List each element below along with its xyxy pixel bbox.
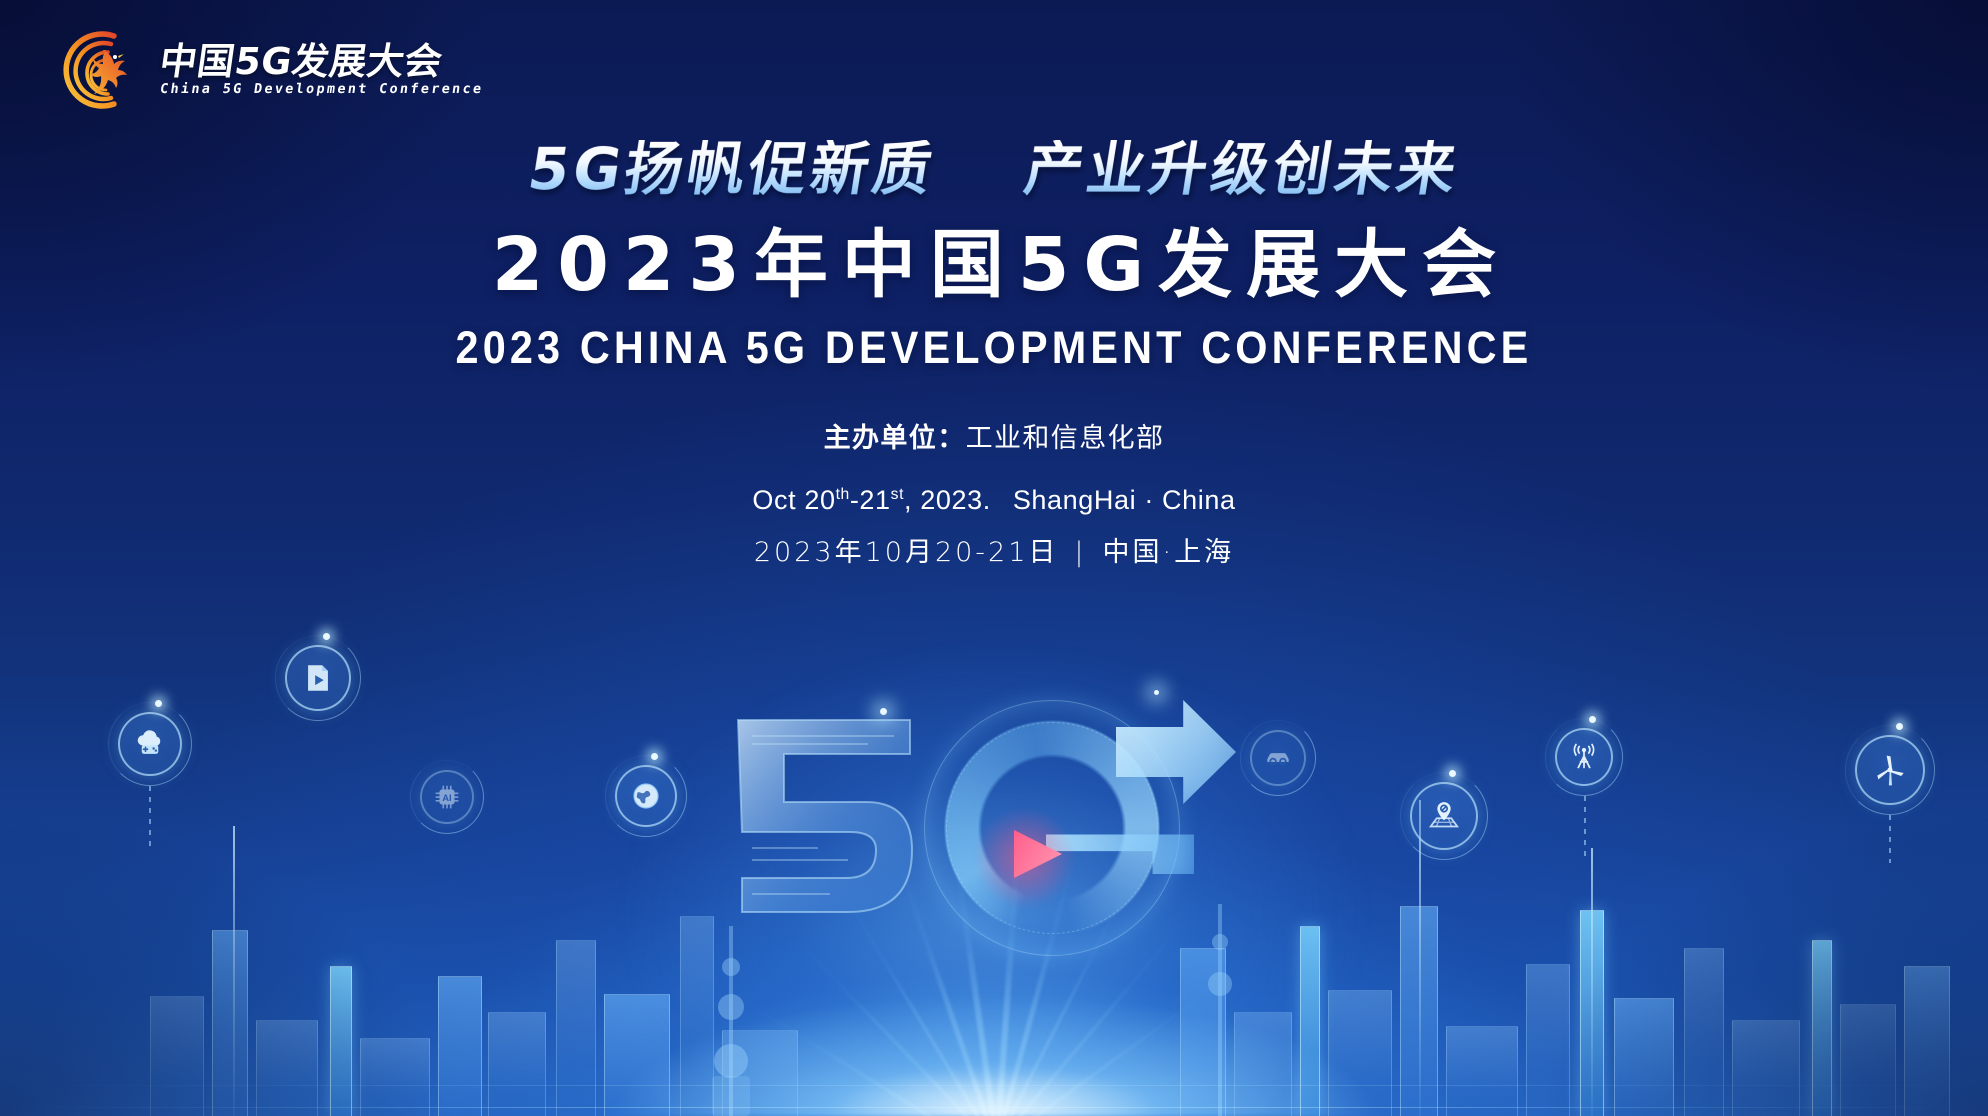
map-pin-glyph bbox=[1425, 797, 1463, 835]
headline-block: 5G扬帆促新质 产业升级创未来 2023年中国5G发展大会 2023 CHINA… bbox=[0, 140, 1988, 569]
badge-connector-line bbox=[149, 786, 151, 846]
logo-name-en: China 5G Development Conference bbox=[159, 83, 484, 97]
ai-chip-glyph: AI bbox=[432, 782, 462, 812]
location-chinese: 中国·上海 bbox=[1103, 537, 1235, 568]
map-pin-icon[interactable] bbox=[1410, 782, 1478, 850]
media-play-glyph bbox=[301, 661, 335, 695]
cloud-gaming-glyph bbox=[132, 726, 168, 762]
page-title: 2023年中国5G发展大会 bbox=[0, 226, 1988, 306]
globe-glyph bbox=[629, 779, 663, 813]
event-date-chinese: 2023年10月20-21日|中国·上海 bbox=[0, 530, 1988, 569]
date-en-sup1: th bbox=[836, 486, 850, 503]
event-date-english: Oct 20th-21st, 2023.ShangHai · China bbox=[0, 485, 1988, 516]
date-location-separator: | bbox=[1058, 537, 1102, 568]
date-en-mid: -21 bbox=[850, 485, 891, 515]
slogan-part1: 5G扬帆促新质 bbox=[523, 135, 940, 203]
conference-logo[interactable]: 中国5G发展大会 China 5G Development Conference bbox=[56, 26, 483, 114]
smart-car-icon[interactable] bbox=[1250, 730, 1306, 786]
wind-turbine-icon[interactable] bbox=[1855, 735, 1925, 805]
page-title-english: 2023 CHINA 5G DEVELOPMENT CONFERENCE bbox=[80, 322, 1909, 374]
badge-connector-line bbox=[1584, 796, 1586, 862]
date-en-prefix: Oct 20 bbox=[752, 485, 835, 515]
cloud-gaming-icon[interactable] bbox=[118, 712, 182, 776]
slogan-part2: 产业升级创未来 bbox=[1020, 135, 1465, 203]
conference-poster: AI bbox=[0, 0, 1988, 1116]
event-slogan: 5G扬帆促新质 产业升级创未来 bbox=[524, 140, 1464, 198]
badge-connector-line bbox=[1889, 815, 1891, 863]
location-english: ShangHai · China bbox=[1013, 485, 1236, 515]
phoenix-icon bbox=[56, 26, 144, 114]
host-organization: 主办单位：工业和信息化部 bbox=[0, 416, 1988, 455]
svg-text:AI: AI bbox=[442, 793, 451, 803]
hero-5g-graphic bbox=[684, 672, 1304, 1012]
date-en-sup2: st bbox=[891, 486, 904, 503]
signal-tower-glyph bbox=[1567, 740, 1601, 774]
signal-tower-icon[interactable] bbox=[1555, 728, 1613, 786]
ai-chip-icon[interactable]: AI bbox=[420, 770, 474, 824]
globe-icon[interactable] bbox=[615, 765, 677, 827]
wind-turbine-glyph bbox=[1870, 750, 1910, 790]
date-cn-value: 2023年10月20-21日 bbox=[754, 537, 1059, 568]
host-label: 主办单位： bbox=[824, 423, 966, 454]
logo-name-cn: 中国5G发展大会 bbox=[157, 43, 485, 80]
media-play-icon[interactable] bbox=[285, 645, 351, 711]
smart-car-glyph bbox=[1262, 742, 1294, 774]
host-value: 工业和信息化部 bbox=[966, 423, 1165, 454]
date-en-suffix: , 2023. bbox=[904, 485, 991, 515]
